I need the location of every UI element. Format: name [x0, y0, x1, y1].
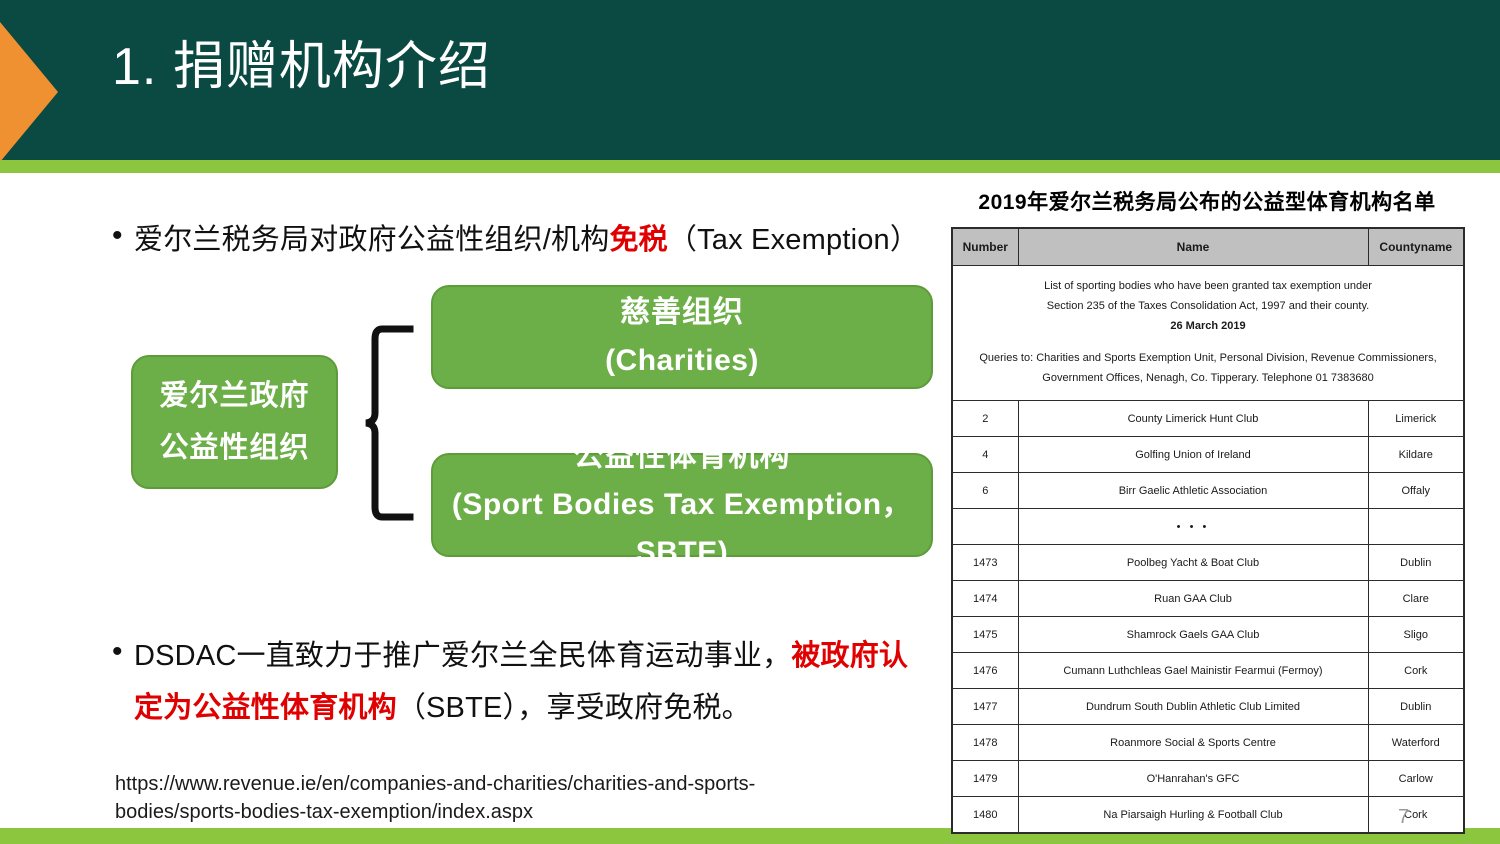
cell-name: Poolbeg Yacht & Boat Club: [1018, 545, 1368, 581]
left-content-column: • 爱尔兰税务局对政府公益性组织/机构免税（Tax Exemption） 爱尔兰…: [0, 180, 940, 830]
bullet-text-2: DSDAC一直致力于推广爱尔兰全民体育运动事业，被政府认定为公益性体育机构（SB…: [134, 630, 928, 734]
branch-1-cn: 公益性体育机构: [574, 433, 791, 481]
diagram-root-line2: 公益性组织: [159, 422, 309, 474]
cell-countyname: Sligo: [1368, 617, 1464, 653]
page-title: 1. 捐赠机构介绍: [112, 35, 491, 99]
table-row: 1479O'Hanrahan's GFCCarlow: [952, 761, 1464, 797]
cell-name: Roanmore Social & Sports Centre: [1018, 725, 1368, 761]
cell-name: Birr Gaelic Athletic Association: [1018, 473, 1368, 509]
cell-countyname: Cork: [1368, 653, 1464, 689]
table-header-row: Number Name Countyname: [952, 228, 1464, 266]
column-header-number: Number: [952, 228, 1018, 266]
cell-countyname: Cork: [1368, 797, 1464, 834]
cell-countyname: Carlow: [1368, 761, 1464, 797]
cell-name: Cumann Luthchleas Gael Mainistir Fearmui…: [1018, 653, 1368, 689]
table-row: 1475Shamrock Gaels GAA ClubSligo: [952, 617, 1464, 653]
cell-number: 4: [952, 437, 1018, 473]
branch-0-cn: 慈善组织: [620, 289, 744, 337]
cell-number: 1480: [952, 797, 1018, 834]
cell-number: [952, 509, 1018, 545]
cell-name: County Limerick Hunt Club: [1018, 401, 1368, 437]
slide-page-number: 7: [1398, 806, 1409, 829]
table-caption-row: List of sporting bodies who have been gr…: [952, 266, 1464, 401]
table-caption: List of sporting bodies who have been gr…: [952, 266, 1464, 401]
cell-countyname: Offaly: [1368, 473, 1464, 509]
table-row: 2County Limerick Hunt ClubLimerick: [952, 401, 1464, 437]
sbte-list-table: List of sporting bodies who have been gr…: [951, 227, 1465, 834]
table-row: • • •: [952, 509, 1464, 545]
cell-name: Na Piarsaigh Hurling & Football Club: [1018, 797, 1368, 834]
bullet-item-2: • DSDAC一直致力于推广爱尔兰全民体育运动事业，被政府认定为公益性体育机构（…: [108, 630, 928, 734]
orange-chevron-icon: [0, 22, 58, 162]
cell-number: 1479: [952, 761, 1018, 797]
caption-line-3: Queries to: Charities and Sports Exempti…: [967, 348, 1449, 368]
table-row: 6Birr Gaelic Athletic AssociationOffaly: [952, 473, 1464, 509]
table-row: 1478Roanmore Social & Sports CentreWater…: [952, 725, 1464, 761]
slide-header-band: 1. 捐赠机构介绍: [0, 0, 1500, 160]
bullet-text-1: 爱尔兰税务局对政府公益性组织/机构免税（Tax Exemption）: [134, 214, 919, 266]
cell-name: • • •: [1018, 509, 1368, 545]
diagram-branch-box-charities: 慈善组织 (Charities): [431, 285, 933, 389]
cell-name: Dundrum South Dublin Athletic Club Limit…: [1018, 689, 1368, 725]
header-green-divider: [0, 160, 1500, 173]
column-header-countyname: Countyname: [1368, 228, 1464, 266]
cell-number: 1475: [952, 617, 1018, 653]
cell-number: 1478: [952, 725, 1018, 761]
table-row: 1474Ruan GAA ClubClare: [952, 581, 1464, 617]
bullet-2-seg-0: DSDAC一直致力于推广爱尔兰全民体育运动事业，: [134, 640, 791, 672]
cell-name: O'Hanrahan's GFC: [1018, 761, 1368, 797]
cell-countyname: Limerick: [1368, 401, 1464, 437]
bullet-marker-icon-2: •: [108, 630, 134, 674]
cell-name: Ruan GAA Club: [1018, 581, 1368, 617]
cell-number: 6: [952, 473, 1018, 509]
cell-number: 1476: [952, 653, 1018, 689]
diagram-root-box: 爱尔兰政府 公益性组织: [131, 355, 338, 489]
bullet-marker-icon: •: [108, 214, 134, 258]
diagram-root-line1: 爱尔兰政府: [159, 370, 309, 422]
caption-date: 26 March 2019: [967, 316, 1449, 336]
cell-countyname: Dublin: [1368, 545, 1464, 581]
source-url-link[interactable]: https://www.revenue.ie/en/companies-and-…: [115, 770, 835, 826]
bullet-item-1: • 爱尔兰税务局对政府公益性组织/机构免税（Tax Exemption）: [108, 214, 938, 266]
caption-line-4: Government Offices, Nenagh, Co. Tipperar…: [967, 368, 1449, 388]
cell-countyname: [1368, 509, 1464, 545]
bullet-1-seg-0: 爱尔兰税务局对政府公益性组织/机构: [134, 224, 609, 256]
table-row: 4Golfing Union of IrelandKildare: [952, 437, 1464, 473]
cell-name: Shamrock Gaels GAA Club: [1018, 617, 1368, 653]
caption-line-1: List of sporting bodies who have been gr…: [967, 276, 1449, 296]
branch-0-en: (Charities): [605, 337, 759, 385]
cell-number: 1474: [952, 581, 1018, 617]
table-panel: 2019年爱尔兰税务局公布的公益型体育机构名单 List of sporting…: [951, 186, 1463, 834]
cell-countyname: Dublin: [1368, 689, 1464, 725]
cell-countyname: Waterford: [1368, 725, 1464, 761]
cell-name: Golfing Union of Ireland: [1018, 437, 1368, 473]
table-row: 1473Poolbeg Yacht & Boat ClubDublin: [952, 545, 1464, 581]
org-structure-diagram: 爱尔兰政府 公益性组织 慈善组织 (Charities) 公益性体育机构 (Sp…: [0, 285, 940, 575]
column-header-name: Name: [1018, 228, 1368, 266]
bullet-1-seg-2: （Tax Exemption）: [668, 224, 919, 256]
diagram-branch-box-sbte: 公益性体育机构 (Sport Bodies Tax Exemption，SBTE…: [431, 453, 933, 557]
bullet-1-seg-1-emphasis: 免税: [609, 224, 667, 256]
cell-number: 2: [952, 401, 1018, 437]
table-row: 1477Dundrum South Dublin Athletic Club L…: [952, 689, 1464, 725]
cell-number: 1473: [952, 545, 1018, 581]
cell-countyname: Clare: [1368, 581, 1464, 617]
table-panel-title: 2019年爱尔兰税务局公布的公益型体育机构名单: [951, 186, 1463, 216]
branch-1-en: (Sport Bodies Tax Exemption，SBTE): [433, 481, 931, 577]
cell-number: 1477: [952, 689, 1018, 725]
table-body: 2County Limerick Hunt ClubLimerick4Golfi…: [952, 401, 1464, 834]
caption-line-2: Section 235 of the Taxes Consolidation A…: [967, 296, 1449, 316]
cell-countyname: Kildare: [1368, 437, 1464, 473]
bullet-2-seg-2: （SBTE），享受政府免税。: [397, 692, 751, 724]
table-row: 1480Na Piarsaigh Hurling & Football Club…: [952, 797, 1464, 834]
curly-brace-icon: [360, 323, 416, 523]
table-row: 1476Cumann Luthchleas Gael Mainistir Fea…: [952, 653, 1464, 689]
